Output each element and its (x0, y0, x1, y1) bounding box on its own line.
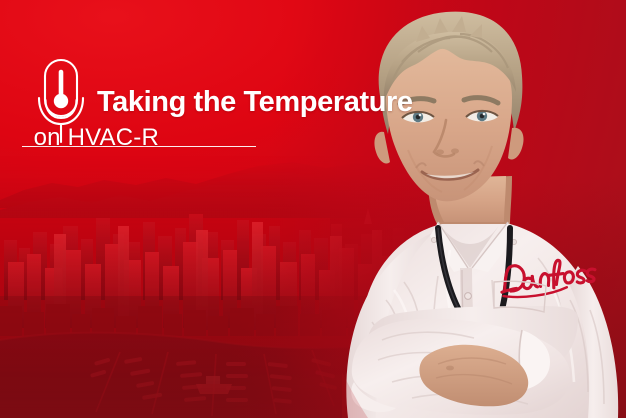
podcast-title: Taking the Temperature (97, 88, 413, 117)
podcast-banner: Taking the Temperature on HVAC-R (0, 0, 626, 418)
podcast-logo-lockup: Taking the Temperature on HVAC-R (0, 0, 400, 170)
podcast-subtitle: on HVAC-R (34, 126, 159, 150)
